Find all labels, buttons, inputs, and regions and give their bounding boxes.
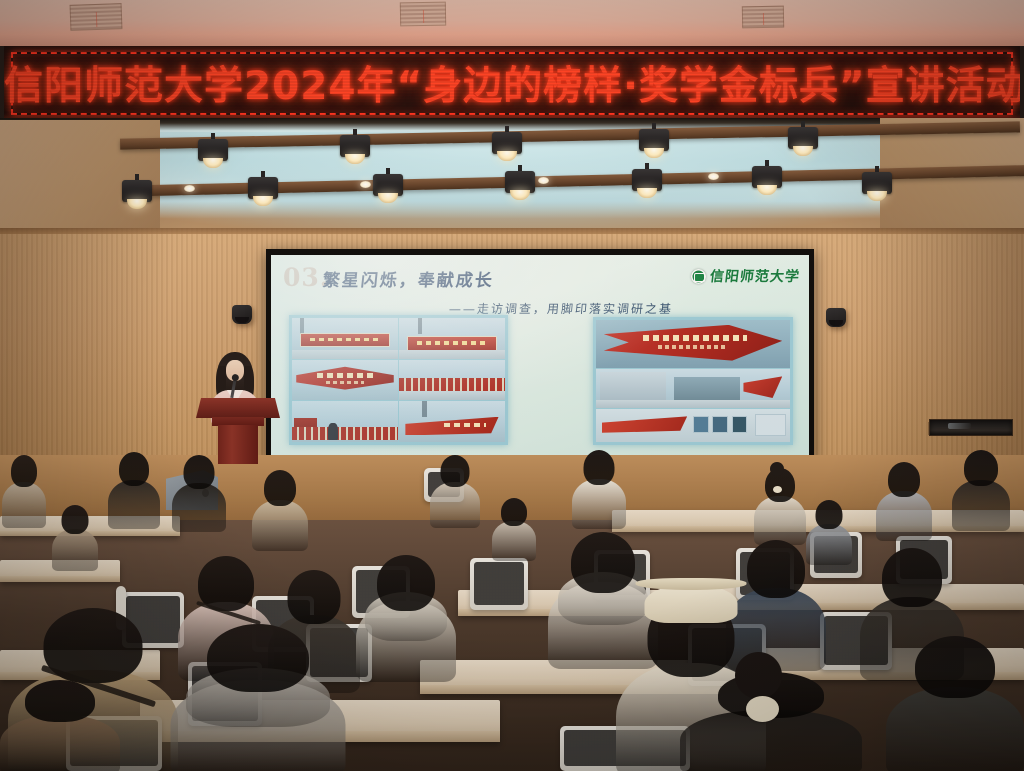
wall-vent-slot-right [928,422,930,435]
attendee-torso [0,715,120,771]
attendee-torso [754,496,806,545]
photo-party-history-red-arrow-banner [596,320,790,368]
ceiling-vent-left [70,3,123,31]
photo-street-exhibit-boards [596,369,790,408]
attendee-back-row-center [430,455,480,525]
attendee-head [888,462,920,497]
stage-light-back-3 [492,132,522,166]
attendee-torso [2,482,46,528]
attendee-left-edge-front [0,680,120,771]
control-room-window-right [929,419,1013,436]
attendee-front-black-scrunchie [680,672,862,771]
projected-slide: 03. 繁星闪烁，奉献成长 ——走访调查，用脚印落实调研之基 信阳师范大学 [271,255,809,455]
attendee-torso [108,480,160,529]
attendee-suit-center-left [108,452,160,526]
attendee-head [62,505,89,534]
photo-doc-card-3 [732,416,748,433]
ceiling-upper-surface [0,0,1024,46]
stage-light-back-5 [788,127,818,161]
photo-red-fence-wall [399,360,505,401]
ceiling-beam-right [880,118,1024,244]
attendee-beige-sweater [252,470,308,548]
stage-light-front-3 [373,174,403,208]
audience-chair-4[interactable] [470,558,528,610]
photo-red-slogan-wall [399,318,505,359]
stage-light-front-1 [122,180,152,214]
attendee-head [501,498,527,526]
recessed-downlight-3 [538,177,549,184]
lecture-hall-photo: 信阳师范大学2024年“身边的榜样·奖学金标兵”宣讲活动 03. 繁星闪烁，奉献… [0,0,1024,771]
attendee-front-grey-hoodie [170,624,345,771]
photo-village-sign-board [292,318,398,359]
led-banner: 信阳师范大学2024年“身边的榜样·奖学金标兵”宣讲活动 [4,46,1020,121]
attendee-head [377,555,435,611]
attendee-grey-blouse [876,462,932,538]
attendee-bun-right [754,468,806,542]
university-logo-text: 信阳师范大学 [709,266,801,286]
university-logo: 信阳师范大学 [691,266,800,286]
attendee-head [264,470,296,506]
recessed-downlight-4 [708,173,719,180]
slide-photo-collage-left [289,315,508,445]
slide-photo-collage-right [593,317,793,445]
attendee-hair-bun [770,462,784,476]
attendee-head [584,450,615,485]
wall-speaker-left [232,305,252,324]
attendee-black-jacket [172,455,226,529]
attendee-hair-scrunchie [773,486,782,493]
attendee-head [288,570,341,624]
attendee-head [441,455,470,487]
stage-light-back-6 [862,172,892,206]
photo-documents-and-posters [596,409,790,442]
stage-light-front-2 [248,177,278,211]
attendee-torso [52,529,98,571]
ceiling-vent-center [400,2,446,27]
attendee-mid-hoodie-grey [356,555,456,677]
stage-light-back-1 [198,139,228,173]
attendee-row2-left-small [52,505,98,569]
attendee-torso [806,524,852,565]
attendee-row2-center [492,498,536,558]
attendee-white-top [572,450,626,526]
attendee-head [915,636,995,698]
attendee-head [25,680,95,722]
photo-survey-banner [399,401,505,442]
attendee-head [747,540,805,598]
attendee-head [571,532,635,593]
attendee-torso [172,483,226,532]
attendee-torso [952,480,1010,531]
attendee-head [119,452,149,486]
recessed-downlight-1 [184,185,195,192]
attendee-far-left-back [2,455,46,525]
photo-doc-card-2 [712,416,728,433]
attendee-front-right-dark [886,636,1024,771]
attendee-dark-right-edge [952,450,1010,528]
attendee-cap-brim [636,578,747,590]
stage-light-back-4 [639,129,669,163]
attendee-head [964,450,998,486]
wall-speaker-right [826,308,846,327]
projection-screen-bezel: 03. 繁星闪烁，奉献成长 ——走访调查，用脚印落实调研之基 信阳师范大学 [266,249,814,462]
attendee-head [207,624,309,692]
stage-light-front-4 [505,171,535,205]
attendee-head [11,455,37,487]
attendee-hair-bun [735,652,782,699]
attendee-row2-right [806,500,852,562]
photo-gate-with-visitor [292,401,398,442]
attendee-torso [886,687,1024,771]
photo-doc-card-1 [693,416,709,433]
lectern-top [196,398,280,418]
attendee-head [882,548,942,607]
stage-light-back-2 [340,135,370,169]
recessed-downlight-2 [360,181,371,188]
photo-memorial-arch [292,360,398,401]
university-logo-mark [691,269,706,284]
attendee-torso [492,521,536,561]
attendee-torso [572,479,626,529]
attendee-torso [252,500,308,551]
attendee-head [816,500,843,529]
attendee-hair-scrunchie [746,696,779,722]
ceiling-vent-right [742,6,784,29]
led-banner-text: 信阳师范大学2024年“身边的榜样·奖学金标兵”宣讲活动 [4,54,1020,110]
stage-light-front-5 [632,169,662,203]
slide-title: 繁星闪烁，奉献成长 [322,266,496,291]
photo-doc-card-4 [755,414,786,436]
attendee-head [184,455,215,489]
attendee-torso [430,482,480,528]
attendee-torso [876,491,932,541]
stage-light-front-6 [752,166,782,200]
